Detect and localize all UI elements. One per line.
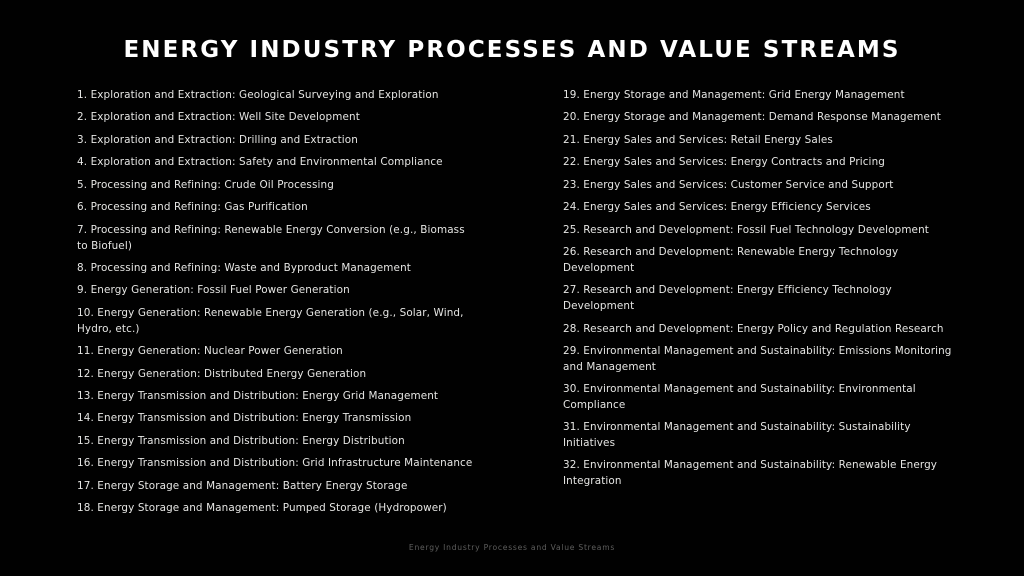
list-item: 5. Processing and Refining: Crude Oil Pr… <box>77 178 477 194</box>
list-item: 17. Energy Storage and Management: Batte… <box>77 479 477 495</box>
list-item: 6. Processing and Refining: Gas Purifica… <box>77 200 477 216</box>
list-item: 9. Energy Generation: Fossil Fuel Power … <box>77 283 477 299</box>
list-item: 1. Exploration and Extraction: Geologica… <box>77 88 477 104</box>
list-item: 22. Energy Sales and Services: Energy Co… <box>563 155 963 171</box>
list-item: 32. Environmental Management and Sustain… <box>563 458 963 489</box>
list-item: 3. Exploration and Extraction: Drilling … <box>77 133 477 149</box>
list-item: 10. Energy Generation: Renewable Energy … <box>77 306 477 337</box>
list-item: 15. Energy Transmission and Distribution… <box>77 434 477 450</box>
slide-canvas: Energy Industry Processes and Value Stre… <box>0 0 1024 576</box>
list-item: 29. Environmental Management and Sustain… <box>563 344 963 375</box>
list-item: 8. Processing and Refining: Waste and By… <box>77 261 477 277</box>
list-item: 24. Energy Sales and Services: Energy Ef… <box>563 200 963 216</box>
list-item: 30. Environmental Management and Sustain… <box>563 382 963 413</box>
list-item: 26. Research and Development: Renewable … <box>563 245 963 276</box>
list-item: 25. Research and Development: Fossil Fue… <box>563 223 963 239</box>
process-list-column-left: 1. Exploration and Extraction: Geologica… <box>77 88 477 524</box>
list-item: 27. Research and Development: Energy Eff… <box>563 283 963 314</box>
list-item: 11. Energy Generation: Nuclear Power Gen… <box>77 344 477 360</box>
list-item: 28. Research and Development: Energy Pol… <box>563 322 963 338</box>
list-item: 16. Energy Transmission and Distribution… <box>77 456 477 472</box>
list-item: 18. Energy Storage and Management: Pumpe… <box>77 501 477 517</box>
page-title: Energy Industry Processes and Value Stre… <box>0 38 1024 63</box>
process-list-column-right: 19. Energy Storage and Management: Grid … <box>563 88 963 496</box>
process-list-columns: 1. Exploration and Extraction: Geologica… <box>0 88 1024 528</box>
list-item: 2. Exploration and Extraction: Well Site… <box>77 110 477 126</box>
list-item: 13. Energy Transmission and Distribution… <box>77 389 477 405</box>
list-item: 20. Energy Storage and Management: Deman… <box>563 110 963 126</box>
list-item: 31. Environmental Management and Sustain… <box>563 420 963 451</box>
list-item: 7. Processing and Refining: Renewable En… <box>77 223 477 254</box>
list-item: 4. Exploration and Extraction: Safety an… <box>77 155 477 171</box>
list-item: 19. Energy Storage and Management: Grid … <box>563 88 963 104</box>
list-item: 23. Energy Sales and Services: Customer … <box>563 178 963 194</box>
list-item: 12. Energy Generation: Distributed Energ… <box>77 367 477 383</box>
list-item: 14. Energy Transmission and Distribution… <box>77 411 477 427</box>
footer-note: Energy Industry Processes and Value Stre… <box>0 543 1024 552</box>
list-item: 21. Energy Sales and Services: Retail En… <box>563 133 963 149</box>
